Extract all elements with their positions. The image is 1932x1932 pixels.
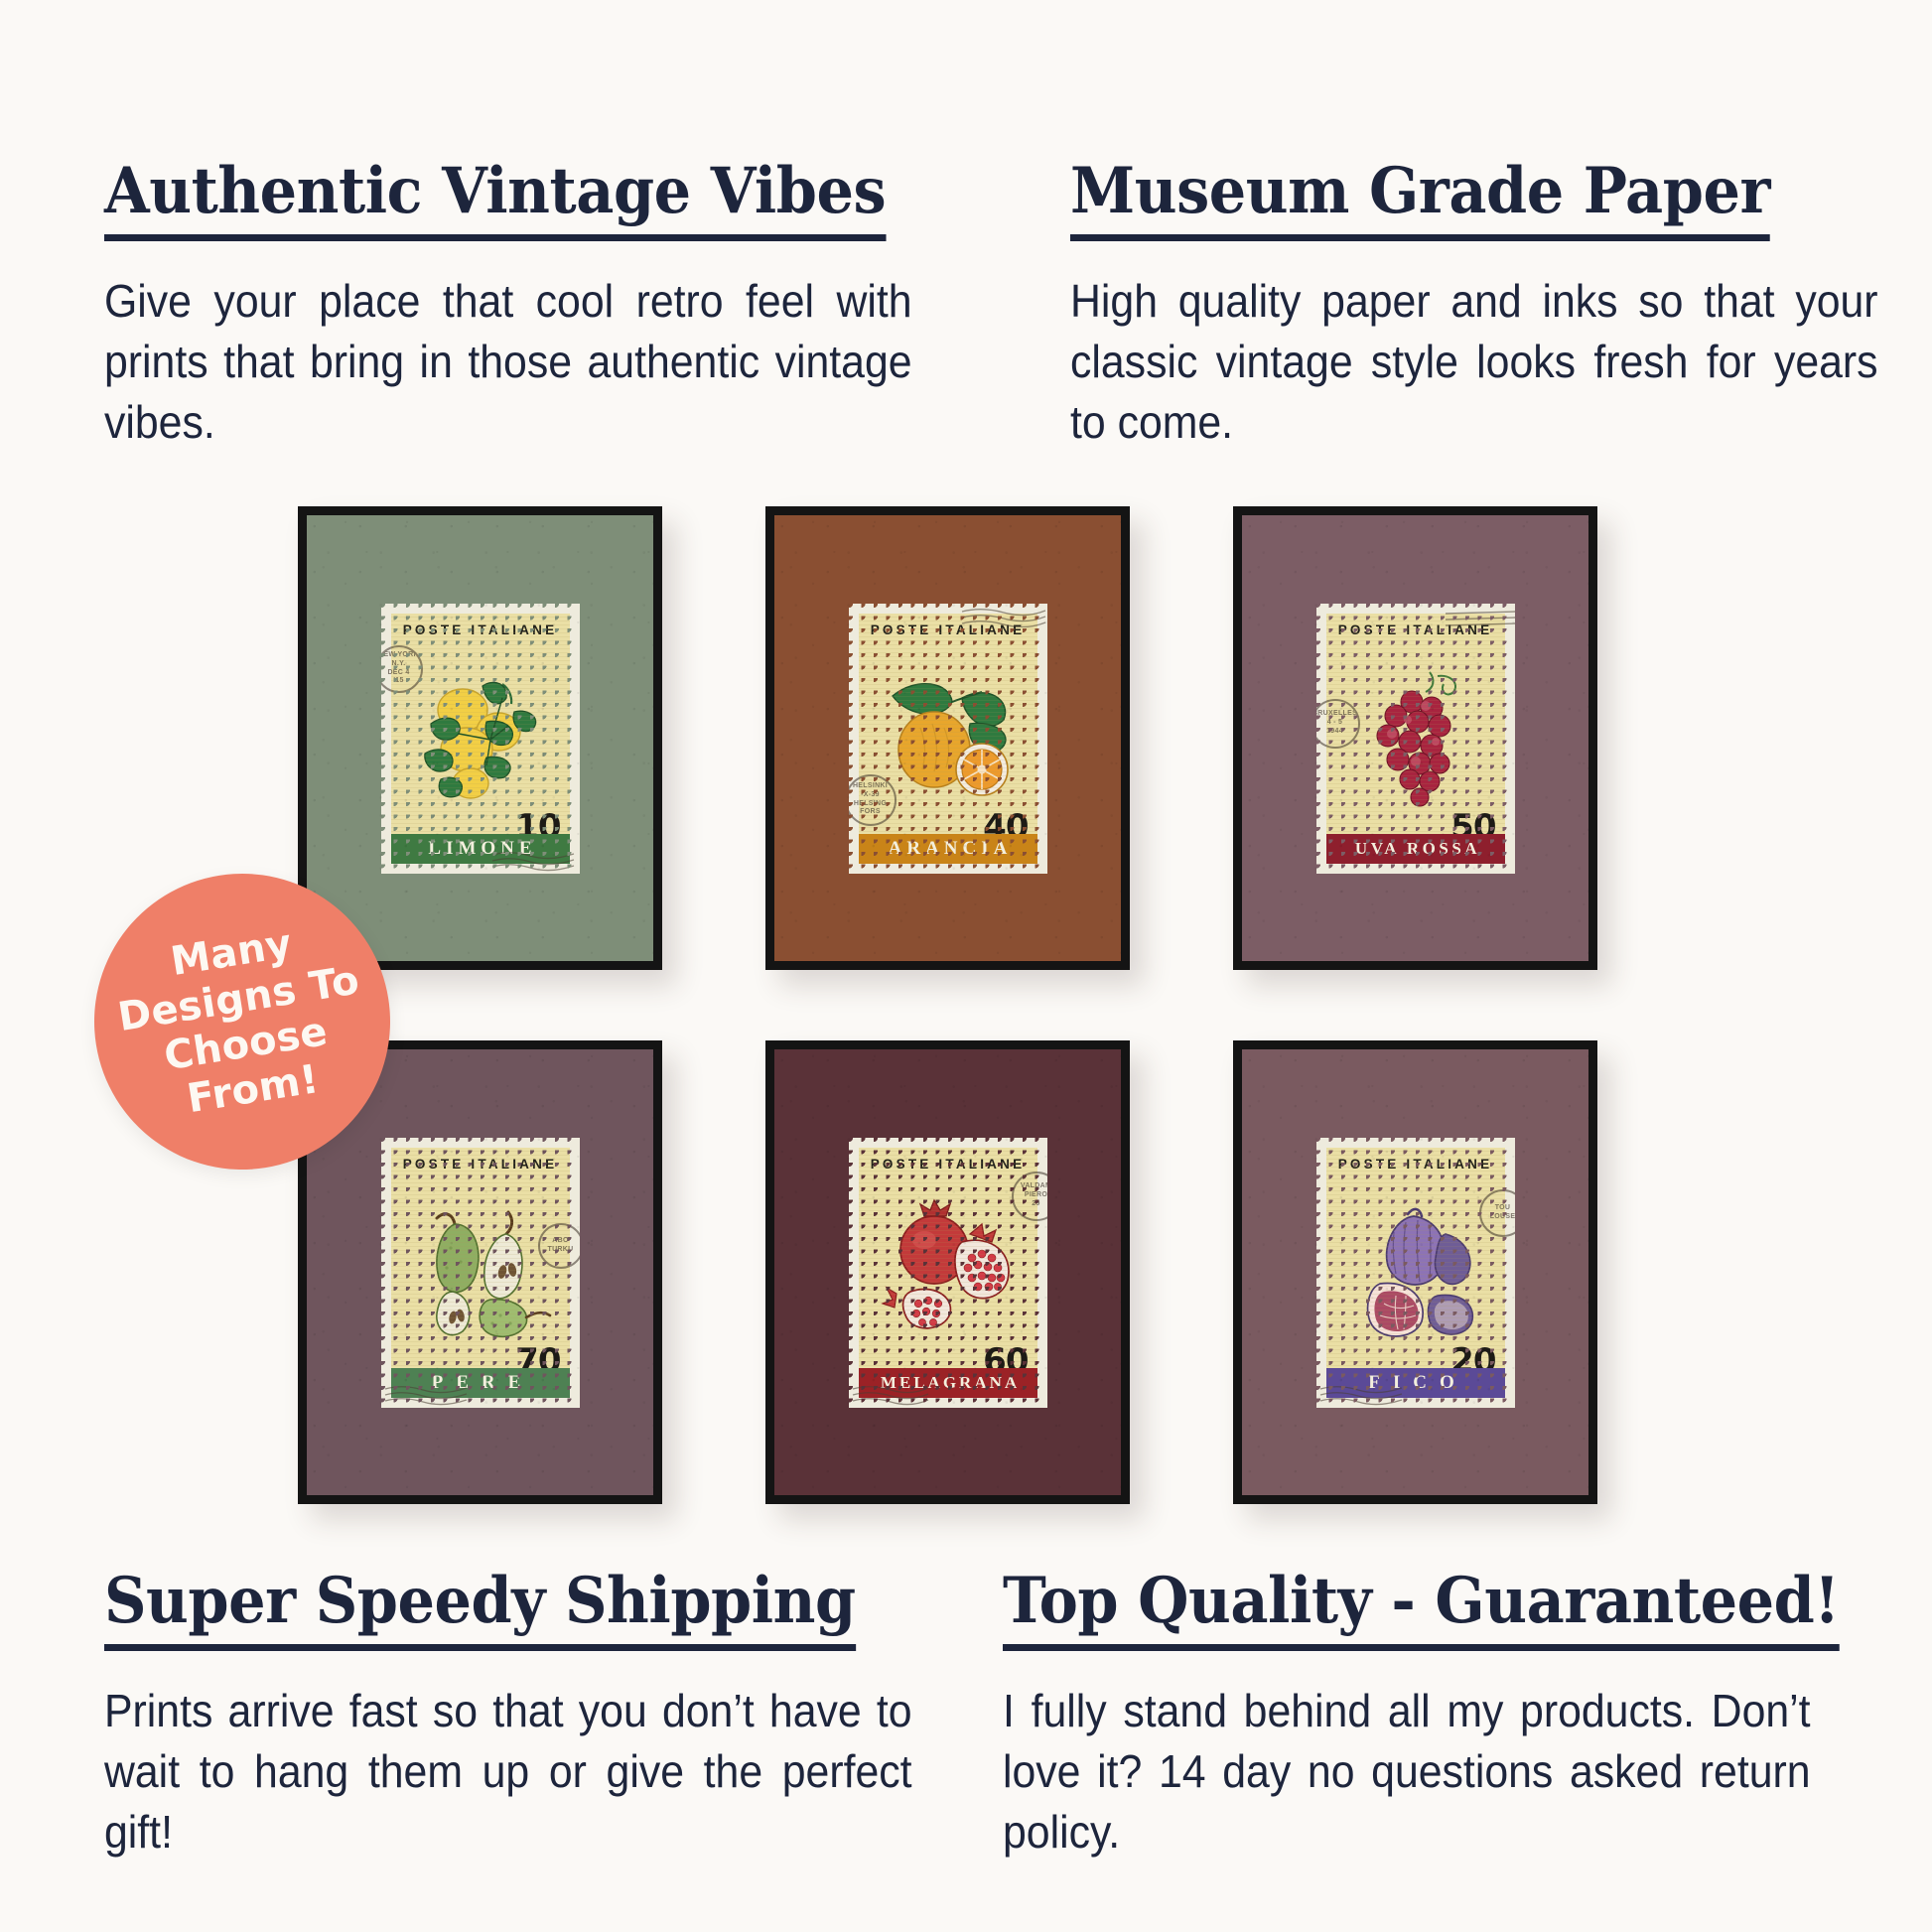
poster-uva-rossa[interactable]: POSTE ITALIANE: [1233, 506, 1597, 970]
stamp-pere: POSTE ITALIANE: [381, 1138, 580, 1408]
poster-mat: POSTE ITALIANE: [307, 515, 653, 961]
stamp-header: POSTE ITALIANE: [391, 1148, 570, 1173]
stamp-header: POSTE ITALIANE: [1326, 1148, 1505, 1173]
stamp-fico: POSTE ITALIANE: [1316, 1138, 1515, 1408]
feature-body: High quality paper and inks so that your…: [1070, 271, 1878, 454]
stamp-header: POSTE ITALIANE: [859, 1148, 1037, 1173]
badge-text: Many Designs To Choose From!: [107, 911, 376, 1132]
poster-mat: POSTE ITALIANE: [307, 1049, 653, 1495]
stamp-limone: POSTE ITALIANE: [381, 604, 580, 874]
stamp-banner: LIMONE: [391, 834, 570, 864]
stamp-artwork-pomegranate: [859, 1173, 1037, 1368]
stamp-banner: MELAGRANA: [859, 1368, 1037, 1398]
feature-title: Super Speedy Shipping: [104, 1564, 856, 1651]
stamp-header: POSTE ITALIANE: [859, 614, 1037, 639]
feature-title: Museum Grade Paper: [1070, 154, 1770, 241]
stamp-banner: FICO: [1326, 1368, 1505, 1398]
feature-body: I fully stand behind all my products. Do…: [1003, 1681, 1811, 1863]
stamp-uva-rossa: POSTE ITALIANE: [1316, 604, 1515, 874]
stamp-name: ARANCIA: [884, 838, 1013, 860]
stamp-name: FICO: [1363, 1372, 1467, 1394]
feature-authentic-vintage-vibes: Authentic Vintage Vibes Give your place …: [104, 154, 908, 454]
stamp-artwork-pears: [391, 1173, 570, 1368]
poster-fico[interactable]: POSTE ITALIANE: [1233, 1040, 1597, 1504]
stamp-header: POSTE ITALIANE: [391, 614, 570, 639]
feature-super-speedy-shipping: Super Speedy Shipping Prints arrive fast…: [104, 1564, 908, 1863]
feature-museum-grade-paper: Museum Grade Paper High quality paper an…: [1070, 154, 1874, 454]
postmark-icon: VALDAMPIERO29: [1012, 1172, 1061, 1221]
poster-arancia[interactable]: POSTE ITALIANE: [765, 506, 1130, 970]
feature-body: Prints arrive fast so that you don’t hav…: [104, 1681, 912, 1863]
poster-mat: POSTE ITALIANE: [1242, 515, 1588, 961]
postmark-icon: BRUXELLES4 - 51944: [1311, 699, 1360, 749]
stamp-banner: PERE: [391, 1368, 570, 1398]
stamp-banner: UVA ROSSA: [1326, 834, 1505, 864]
poster-mat: POSTE ITALIANE: [774, 1049, 1121, 1495]
stamp-banner: ARANCIA: [859, 834, 1037, 864]
stamp-name: PERE: [427, 1372, 534, 1394]
stamp-artwork-figs: [1326, 1173, 1505, 1368]
stamp-header: POSTE ITALIANE: [1326, 614, 1505, 639]
poster-mat: POSTE ITALIANE: [1242, 1049, 1588, 1495]
postmark-icon: HELSINKI-X-39HELSINGFORS: [845, 774, 897, 826]
feature-title: Authentic Vintage Vibes: [104, 154, 886, 241]
stamp-name: UVA ROSSA: [1350, 839, 1480, 859]
stamp-melagrana: POSTE ITALIANE: [849, 1138, 1047, 1408]
stamp-name: MELAGRANA: [876, 1373, 1020, 1393]
postmark-icon: TOULOUSE: [1479, 1189, 1527, 1237]
poster-melagrana[interactable]: POSTE ITALIANE: [765, 1040, 1130, 1504]
postmark-icon: ABOTURKU: [538, 1223, 584, 1269]
stamp-arancia: POSTE ITALIANE: [849, 604, 1047, 874]
postmark-icon: NEW YORKN.Y.DEC 4'15: [375, 645, 423, 693]
poster-mat: POSTE ITALIANE: [774, 515, 1121, 961]
poster-limone[interactable]: POSTE ITALIANE: [298, 506, 662, 970]
stamp-name: LIMONE: [423, 838, 536, 860]
feature-top-quality-guaranteed: Top Quality - Guaranteed! I fully stand …: [1003, 1564, 1807, 1863]
feature-body: Give your place that cool retro feel wit…: [104, 271, 912, 454]
marketing-infographic: Authentic Vintage Vibes Give your place …: [0, 0, 1932, 1932]
poster-grid: POSTE ITALIANE: [298, 506, 1598, 1504]
feature-title: Top Quality - Guaranteed!: [1003, 1564, 1840, 1651]
